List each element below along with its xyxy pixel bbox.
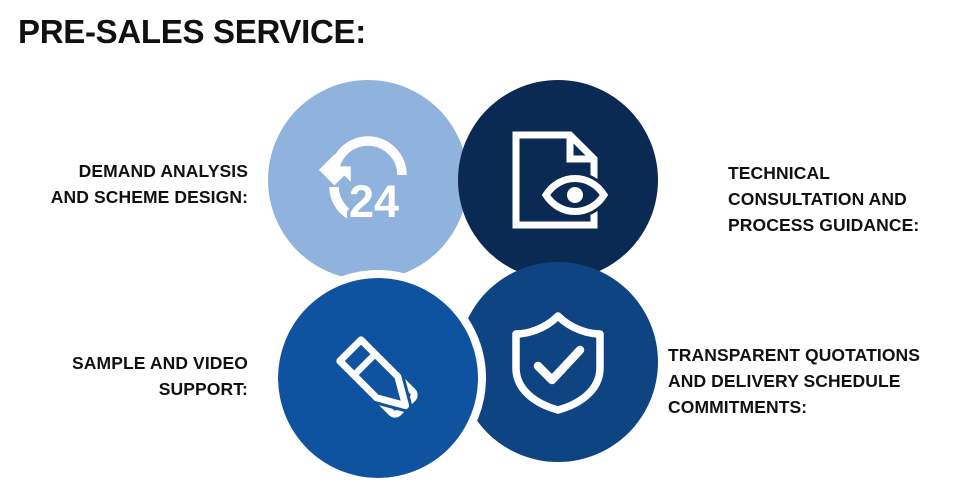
circle-demand-analysis[interactable]: 24 — [268, 80, 468, 280]
label-demand-analysis: DEMAND ANALYSIS AND SCHEME DESIGN: — [0, 158, 248, 210]
circle-technical-consultation[interactable] — [458, 80, 658, 280]
label-transparent-quotations: TRANSPARENT QUOTATIONS AND DELIVERY SCHE… — [668, 342, 960, 420]
page-title: PRE-SALES SERVICE: — [18, 12, 366, 52]
circle-cluster: 24 — [268, 80, 678, 480]
icon-number-24: 24 — [349, 176, 399, 227]
pencil-ruler-icon — [325, 325, 431, 431]
label-sample-video-support: SAMPLE AND VIDEO SUPPORT: — [0, 350, 248, 402]
document-eye-icon — [508, 129, 608, 231]
clock-24-refresh-icon: 24 — [314, 131, 422, 229]
circle-transparent-quotations[interactable] — [458, 262, 658, 462]
label-technical-consultation: TECHNICAL CONSULTATION AND PROCESS GUIDA… — [728, 160, 958, 238]
circle-sample-video-support[interactable] — [278, 278, 478, 478]
shield-check-icon — [508, 310, 608, 414]
